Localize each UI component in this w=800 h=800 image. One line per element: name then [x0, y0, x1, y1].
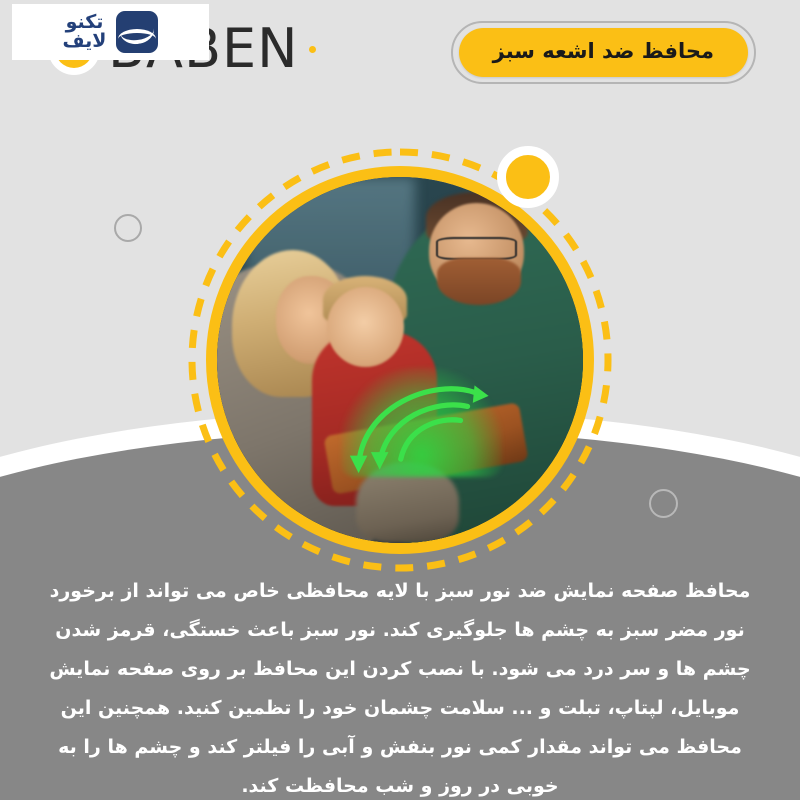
watermark-brand-text: تکنو لایف: [63, 13, 107, 52]
badge-label: محافظ ضد اشعه سبز: [459, 28, 748, 77]
green-arrow-arcs-icon: [334, 360, 510, 484]
brand-accent-dot-icon: [309, 46, 316, 53]
hero-photo-circle: [186, 146, 614, 574]
decorative-circle-icon-right: [649, 489, 678, 518]
photo-scene: [217, 177, 583, 543]
decorative-circle-icon-left: [114, 214, 142, 242]
product-badge: محافظ ضد اشعه سبز: [459, 28, 748, 77]
glasses-icon: [436, 237, 517, 259]
father-beard: [437, 258, 521, 306]
poster-canvas: BABEN محافظ ضد اشعه سبز: [0, 0, 800, 800]
accent-dot-icon: [497, 146, 559, 208]
family-using-tablet-photo: [217, 177, 583, 543]
watermark-overlay: تکنو لایف: [12, 4, 209, 60]
techno-life-logo-icon: [116, 11, 158, 53]
description-paragraph: محافظ صفحه نمایش ضد نور سبز با لایه محاف…: [40, 572, 760, 800]
child-head: [327, 287, 404, 368]
watermark-brand-line2: لایف: [63, 32, 107, 51]
